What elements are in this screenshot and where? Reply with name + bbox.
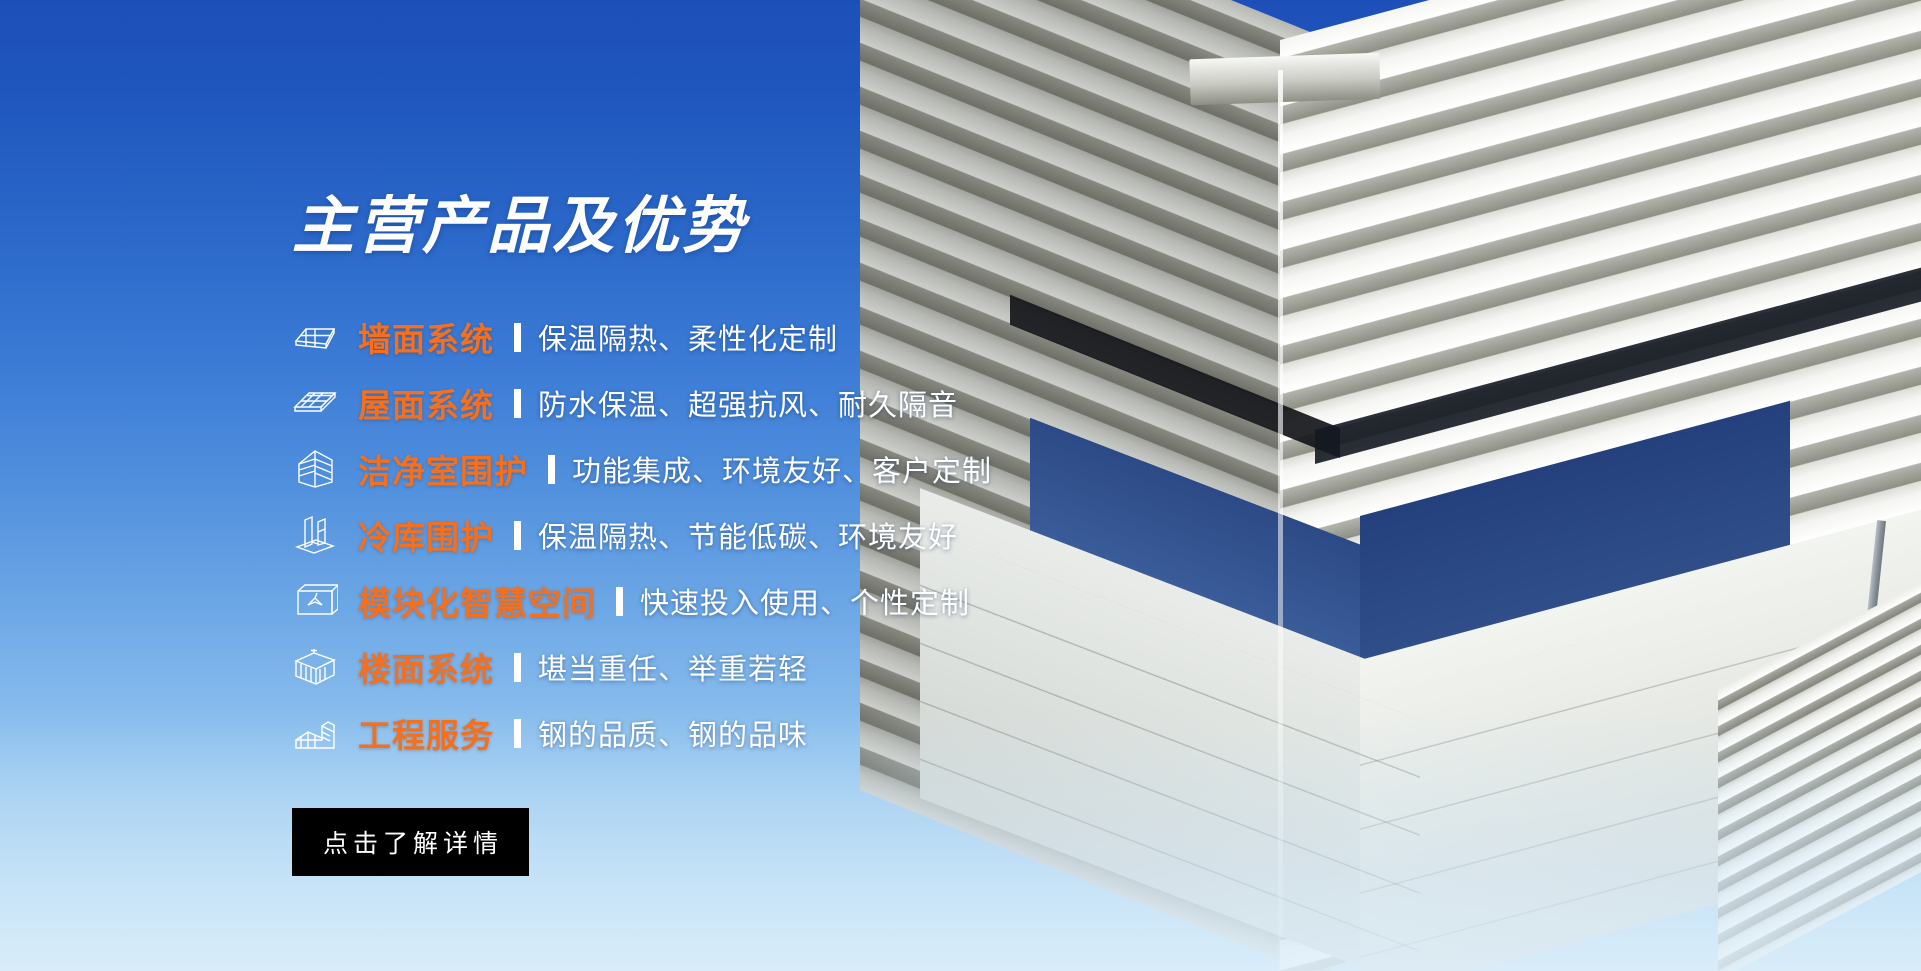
separator-bar [616, 587, 623, 616]
wall-system-icon [292, 314, 338, 360]
modular-space-icon [292, 578, 338, 624]
list-item[interactable]: 洁净室围护 功能集成、环境友好、客户定制 [292, 436, 1412, 502]
product-desc: 保温隔热、节能低碳、环境友好 [538, 514, 958, 556]
product-name: 楼面系统 [358, 643, 494, 691]
product-name: 墙面系统 [358, 313, 494, 361]
product-name: 洁净室围护 [358, 445, 528, 493]
engineering-icon [292, 710, 338, 756]
building-apex-cornice [1189, 53, 1380, 106]
list-item[interactable]: 屋面系统 防水保温、超强抗风、耐久隔音 [292, 370, 1412, 436]
product-list: 墙面系统 保温隔热、柔性化定制 屋面系统 防水保温、超强抗风、耐久隔音 [292, 304, 1412, 766]
separator-bar [514, 719, 521, 748]
list-item[interactable]: 工程服务 钢的品质、钢的品味 [292, 700, 1412, 766]
page-title: 主营产品及优势 [292, 196, 1412, 258]
coldstorage-icon [292, 512, 338, 558]
cleanroom-icon [292, 446, 338, 492]
separator-bar [514, 653, 521, 682]
product-desc: 功能集成、环境友好、客户定制 [572, 448, 992, 490]
product-name: 屋面系统 [358, 379, 494, 427]
floor-system-icon [292, 644, 338, 690]
product-name: 工程服务 [358, 709, 494, 757]
learn-more-button[interactable]: 点击了解详情 [292, 808, 529, 876]
list-item[interactable]: 楼面系统 堪当重任、举重若轻 [292, 634, 1412, 700]
separator-bar [514, 323, 521, 352]
product-desc: 防水保温、超强抗风、耐久隔音 [538, 382, 958, 424]
product-desc: 快速投入使用、个性定制 [640, 580, 970, 622]
product-desc: 保温隔热、柔性化定制 [538, 316, 838, 358]
separator-bar [548, 455, 555, 484]
list-item[interactable]: 墙面系统 保温隔热、柔性化定制 [292, 304, 1412, 370]
list-item[interactable]: 模块化智慧空间 快速投入使用、个性定制 [292, 568, 1412, 634]
product-name: 冷库围护 [358, 511, 494, 559]
promo-banner: 主营产品及优势 墙面系统 保温隔热、柔性化定制 [0, 0, 1921, 971]
product-desc: 钢的品质、钢的品味 [538, 712, 808, 754]
roof-system-icon [292, 380, 338, 426]
separator-bar [514, 389, 521, 418]
product-name: 模块化智慧空间 [358, 577, 596, 625]
banner-content: 主营产品及优势 墙面系统 保温隔热、柔性化定制 [292, 196, 1412, 876]
separator-bar [514, 521, 521, 550]
product-desc: 堪当重任、举重若轻 [538, 646, 808, 688]
list-item[interactable]: 冷库围护 保温隔热、节能低碳、环境友好 [292, 502, 1412, 568]
